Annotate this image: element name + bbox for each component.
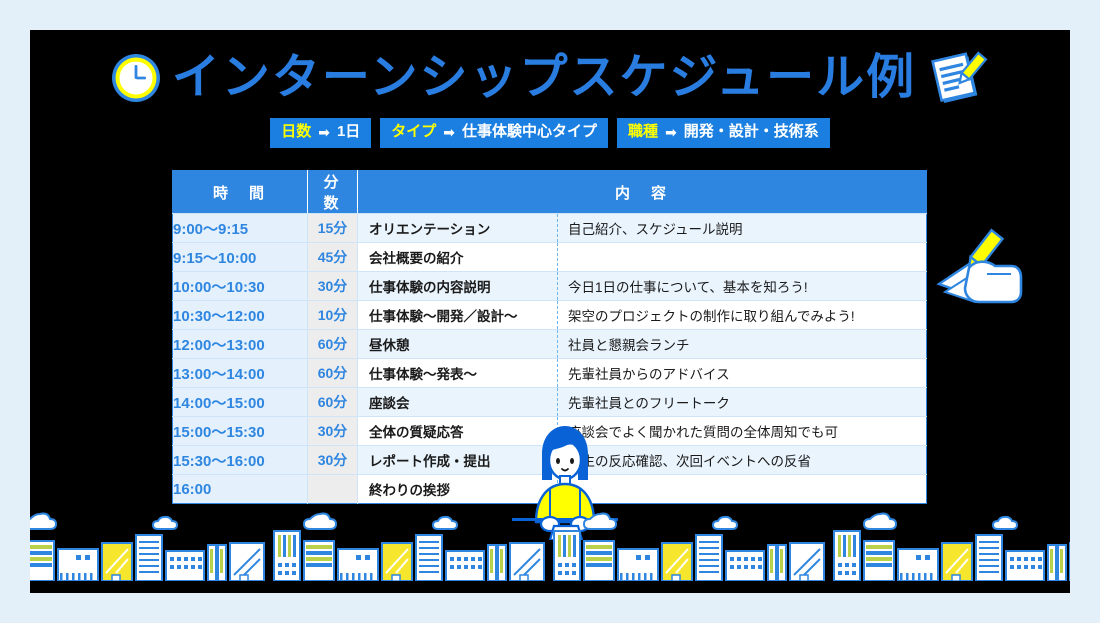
cell-content: 全体の質疑応答座談会でよく聞かれた質問の全体周知でも可 bbox=[358, 417, 927, 446]
badge-days: 日数 ➡ 1日 bbox=[270, 118, 371, 148]
content-cell-inner: レポート作成・提出学生の反応確認、次回イベントへの反省 bbox=[358, 446, 926, 474]
content-cell-inner: 終わりの挨拶 bbox=[358, 475, 926, 503]
cell-minutes: 10分 bbox=[308, 301, 358, 330]
cell-time: 16:00 bbox=[173, 475, 308, 504]
table-row: 15:00〜15:3030分全体の質疑応答座談会でよく聞かれた質問の全体周知でも… bbox=[173, 417, 927, 446]
content-cell-inner: 会社概要の紹介 bbox=[358, 243, 926, 271]
content-cell-inner: 昼休憩社員と懇親会ランチ bbox=[358, 330, 926, 358]
content-description: 座談会でよく聞かれた質問の全体周知でも可 bbox=[558, 421, 926, 441]
table-row: 10:30〜12:0010分仕事体験〜開発／設計〜架空のプロジェクトの制作に取り… bbox=[173, 301, 927, 330]
content-title: 仕事体験〜発表〜 bbox=[358, 359, 558, 387]
content-title: 座談会 bbox=[358, 388, 558, 416]
header: インターンシップスケジュール例 bbox=[30, 38, 1070, 118]
content-cell-inner: オリエンテーション自己紹介、スケジュール説明 bbox=[358, 214, 926, 242]
cell-minutes: 15分 bbox=[308, 214, 358, 243]
cell-content: 昼休憩社員と懇親会ランチ bbox=[358, 330, 927, 359]
schedule-table-wrapper: 時 間 分 数 内 容 9:00〜9:1515分オリエンテーション自己紹介、スケ… bbox=[172, 170, 927, 504]
cell-minutes: 60分 bbox=[308, 330, 358, 359]
cell-minutes: 30分 bbox=[308, 272, 358, 301]
page-title: インターンシップスケジュール例 bbox=[172, 54, 916, 102]
table-row: 14:00〜15:0060分座談会先輩社員とのフリートーク bbox=[173, 388, 927, 417]
table-row: 15:30〜16:0030分レポート作成・提出学生の反応確認、次回イベントへの反… bbox=[173, 446, 927, 475]
content-description: 学生の反応確認、次回イベントへの反省 bbox=[558, 450, 926, 470]
cell-time: 9:00〜9:15 bbox=[173, 214, 308, 243]
arrow-right-icon: ➡ bbox=[665, 124, 677, 142]
cell-time: 15:30〜16:00 bbox=[173, 446, 308, 475]
cell-time: 15:00〜15:30 bbox=[173, 417, 308, 446]
badge-type-value: 仕事体験中心タイプ bbox=[462, 123, 597, 142]
cell-minutes: 30分 bbox=[308, 417, 358, 446]
arrow-right-icon: ➡ bbox=[318, 124, 330, 142]
content-title: 終わりの挨拶 bbox=[358, 475, 558, 503]
content-cell-inner: 座談会先輩社員とのフリートーク bbox=[358, 388, 926, 416]
table-row: 9:15〜10:0045分会社概要の紹介 bbox=[173, 243, 927, 272]
cell-content: 仕事体験の内容説明今日1日の仕事について、基本を知ろう! bbox=[358, 272, 927, 301]
clock-icon bbox=[110, 52, 162, 104]
arrow-right-icon: ➡ bbox=[443, 124, 455, 142]
content-title: レポート作成・提出 bbox=[358, 446, 558, 474]
table-header-row: 時 間 分 数 内 容 bbox=[173, 171, 927, 214]
table-row: 9:00〜9:1515分オリエンテーション自己紹介、スケジュール説明 bbox=[173, 214, 927, 243]
content-description: 架空のプロジェクトの制作に取り組んでみよう! bbox=[558, 305, 926, 325]
cell-content: オリエンテーション自己紹介、スケジュール説明 bbox=[358, 214, 927, 243]
column-header-content: 内 容 bbox=[358, 171, 927, 214]
table-row: 10:00〜10:3030分仕事体験の内容説明今日1日の仕事について、基本を知ろ… bbox=[173, 272, 927, 301]
badge-job-category-value: 開発・設計・技術系 bbox=[684, 123, 819, 142]
city-skyline-illustration bbox=[30, 493, 1070, 593]
content-title: 仕事体験〜開発／設計〜 bbox=[358, 301, 558, 329]
content-cell-inner: 仕事体験〜開発／設計〜架空のプロジェクトの制作に取り組んでみよう! bbox=[358, 301, 926, 329]
content-description: 自己紹介、スケジュール説明 bbox=[558, 218, 926, 238]
column-header-time: 時 間 bbox=[173, 171, 308, 214]
badge-type-label: タイプ bbox=[391, 123, 436, 142]
cell-minutes: 60分 bbox=[308, 388, 358, 417]
cell-time: 10:00〜10:30 bbox=[173, 272, 308, 301]
table-row: 16:00終わりの挨拶 bbox=[173, 475, 927, 504]
cell-time: 13:00〜14:00 bbox=[173, 359, 308, 388]
content-description: 社員と懇親会ランチ bbox=[558, 334, 926, 354]
column-header-minutes: 分 数 bbox=[308, 171, 358, 214]
notepad-pencil-icon bbox=[928, 47, 990, 109]
cell-content: 仕事体験〜発表〜先輩社員からのアドバイス bbox=[358, 359, 927, 388]
content-title: オリエンテーション bbox=[358, 214, 558, 242]
cell-minutes: 60分 bbox=[308, 359, 358, 388]
cell-time: 10:30〜12:00 bbox=[173, 301, 308, 330]
badge-job-category: 職種 ➡ 開発・設計・技術系 bbox=[617, 118, 830, 148]
poster-canvas: インターンシップスケジュール例 日数 ➡ 1日 タイプ ➡ bbox=[30, 30, 1070, 593]
cell-content: 仕事体験〜開発／設計〜架空のプロジェクトの制作に取り組んでみよう! bbox=[358, 301, 927, 330]
content-cell-inner: 全体の質疑応答座談会でよく聞かれた質問の全体周知でも可 bbox=[358, 417, 926, 445]
badge-type: タイプ ➡ 仕事体験中心タイプ bbox=[380, 118, 608, 148]
content-title: 会社概要の紹介 bbox=[358, 243, 558, 271]
cell-content: 会社概要の紹介 bbox=[358, 243, 927, 272]
cell-minutes bbox=[308, 475, 358, 504]
badge-row: 日数 ➡ 1日 タイプ ➡ 仕事体験中心タイプ 職種 ➡ 開発・設計・技術系 bbox=[30, 118, 1070, 148]
content-title: 昼休憩 bbox=[358, 330, 558, 358]
table-row: 12:00〜13:0060分昼休憩社員と懇親会ランチ bbox=[173, 330, 927, 359]
table-body: 9:00〜9:1515分オリエンテーション自己紹介、スケジュール説明9:15〜1… bbox=[173, 214, 927, 504]
badge-job-category-label: 職種 bbox=[628, 123, 658, 142]
content-title: 仕事体験の内容説明 bbox=[358, 272, 558, 300]
badge-days-value: 1日 bbox=[337, 123, 360, 142]
badge-days-label: 日数 bbox=[281, 123, 311, 142]
schedule-table: 時 間 分 数 内 容 9:00〜9:1515分オリエンテーション自己紹介、スケ… bbox=[172, 170, 927, 504]
content-cell-inner: 仕事体験〜発表〜先輩社員からのアドバイス bbox=[358, 359, 926, 387]
content-description: 先輩社員とのフリートーク bbox=[558, 392, 926, 412]
cell-minutes: 45分 bbox=[308, 243, 358, 272]
content-title: 全体の質疑応答 bbox=[358, 417, 558, 445]
table-header: 時 間 分 数 内 容 bbox=[173, 171, 927, 214]
cell-content: 終わりの挨拶 bbox=[358, 475, 927, 504]
cell-time: 9:15〜10:00 bbox=[173, 243, 308, 272]
cell-time: 12:00〜13:00 bbox=[173, 330, 308, 359]
hand-writing-pencil-illustration bbox=[935, 226, 1025, 314]
content-cell-inner: 仕事体験の内容説明今日1日の仕事について、基本を知ろう! bbox=[358, 272, 926, 300]
content-description: 先輩社員からのアドバイス bbox=[558, 363, 926, 383]
cell-content: レポート作成・提出学生の反応確認、次回イベントへの反省 bbox=[358, 446, 927, 475]
cell-content: 座談会先輩社員とのフリートーク bbox=[358, 388, 927, 417]
table-row: 13:00〜14:0060分仕事体験〜発表〜先輩社員からのアドバイス bbox=[173, 359, 927, 388]
cell-time: 14:00〜15:00 bbox=[173, 388, 308, 417]
content-description: 今日1日の仕事について、基本を知ろう! bbox=[558, 276, 926, 296]
cell-minutes: 30分 bbox=[308, 446, 358, 475]
